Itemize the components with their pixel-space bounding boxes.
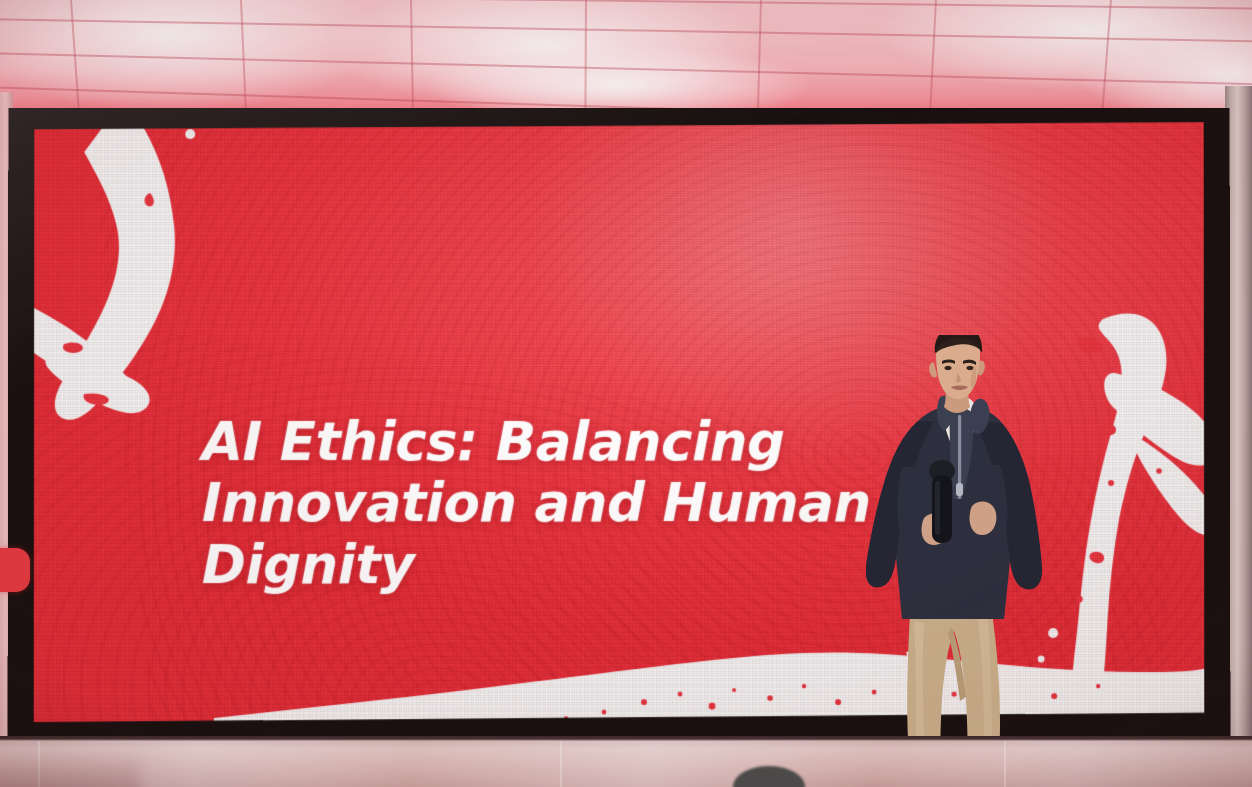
ceiling-tile-line	[1100, 0, 1112, 124]
left-red-fixture	[0, 548, 30, 592]
stage-base-panel	[0, 736, 1252, 787]
ceiling-tile-line	[756, 0, 761, 124]
ceiling-tile-line	[0, 52, 1252, 85]
presenter	[866, 335, 1066, 787]
presentation-photo: AI Ethics: Balancing Innovation and Huma…	[0, 0, 1252, 787]
ceiling	[0, 0, 1252, 124]
ceiling-tile-line	[0, 18, 1252, 42]
slide-title: AI Ethics: Balancing Innovation and Huma…	[202, 412, 922, 596]
ceiling-tile-line	[240, 0, 247, 124]
ceiling-tile-line	[928, 0, 936, 124]
stage-panel-seam	[560, 741, 562, 787]
foreground-blur	[0, 752, 140, 787]
ceiling-tile-line	[70, 0, 81, 124]
stage-base-reflection	[0, 741, 1252, 787]
ceiling-tile-line	[0, 0, 1252, 9]
ceiling-light-panel	[330, 0, 760, 110]
stage-panel-seam	[1004, 741, 1006, 787]
